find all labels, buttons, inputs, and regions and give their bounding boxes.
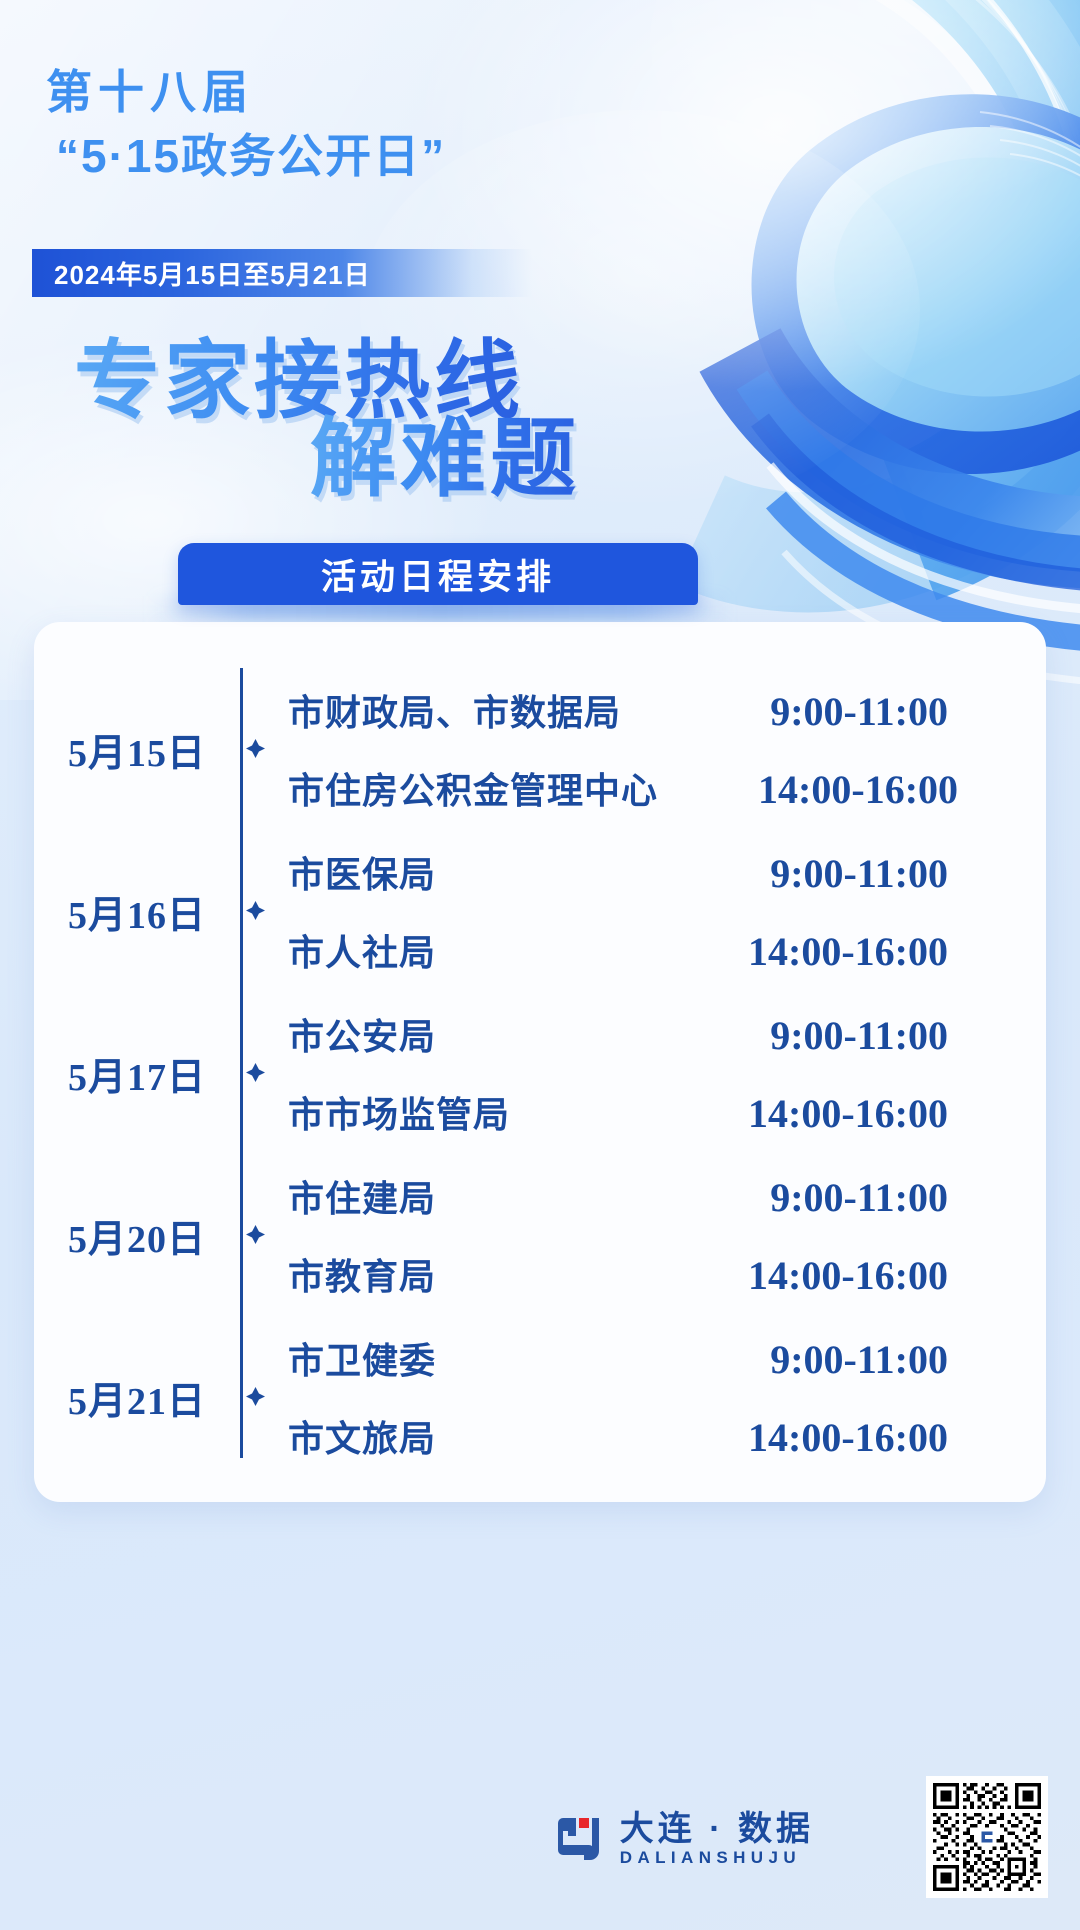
poster-kicker: 第十八届 “5·15政务公开日” [46, 64, 446, 184]
headline-line-2: 解难题 [310, 388, 580, 513]
list-item: 市公安局 9:00-11:00 [288, 1008, 1046, 1060]
entry-time: 9:00-11:00 [648, 1012, 948, 1059]
list-item: 市住建局 9:00-11:00 [288, 1170, 1046, 1222]
brand-lockup: 大连 · 数据 DALIANSHUJU [552, 1810, 814, 1868]
list-item: 市卫健委 9:00-11:00 [288, 1332, 1046, 1384]
row-date: 5月16日 [34, 884, 240, 939]
entry-time: 9:00-11:00 [648, 688, 948, 735]
entry-department: 市教育局 [288, 1248, 648, 1300]
diamond-marker-icon [246, 739, 265, 758]
kicker-line-1: 第十八届 [46, 64, 446, 120]
row-entries: 市财政局、市数据局 9:00-11:00 市住房公积金管理中心 14:00-16… [272, 684, 1046, 814]
poster-footer: 大连 · 数据 DALIANSHUJU [0, 1730, 1080, 1930]
entry-department: 市市场监管局 [288, 1086, 648, 1138]
entry-department: 市住房公积金管理中心 [288, 762, 658, 814]
list-item: 市住房公积金管理中心 14:00-16:00 [288, 762, 1046, 814]
timeline-marker [240, 830, 272, 992]
schedule-banner: 活动日程安排 [178, 543, 698, 605]
row-date: 5月20日 [34, 1208, 240, 1263]
row-entries: 市医保局 9:00-11:00 市人社局 14:00-16:00 [272, 846, 1046, 976]
list-item: 市医保局 9:00-11:00 [288, 846, 1046, 898]
schedule-banner-text: 活动日程安排 [321, 549, 555, 600]
qr-code-icon[interactable] [926, 1776, 1048, 1898]
entry-time: 14:00-16:00 [648, 1090, 948, 1137]
diamond-marker-icon [246, 1063, 265, 1082]
dalian-shuju-logo-icon [552, 1813, 604, 1865]
timeline-marker [240, 668, 272, 830]
row-entries: 市卫健委 9:00-11:00 市文旅局 14:00-16:00 [272, 1332, 1046, 1462]
entry-department: 市公安局 [288, 1008, 648, 1060]
schedule-rows: 5月15日 市财政局、市数据局 9:00-11:00 市住房公积金管理中心 14… [34, 622, 1046, 1502]
date-range-text: 2024年5月15日至5月21日 [32, 255, 371, 292]
table-row: 5月21日 市卫健委 9:00-11:00 市文旅局 14:00-16:00 [34, 1316, 1046, 1478]
entry-department: 市住建局 [288, 1170, 648, 1222]
list-item: 市文旅局 14:00-16:00 [288, 1410, 1046, 1462]
table-row: 5月20日 市住建局 9:00-11:00 市教育局 14:00-16:00 [34, 1154, 1046, 1316]
diamond-marker-icon [246, 1225, 265, 1244]
date-range-badge: 2024年5月15日至5月21日 [32, 249, 532, 297]
list-item: 市人社局 14:00-16:00 [288, 924, 1046, 976]
entry-time: 14:00-16:00 [658, 766, 958, 813]
entry-time: 14:00-16:00 [648, 1414, 948, 1461]
brand-name-cn: 大连 · 数据 [620, 1810, 814, 1848]
timeline-marker [240, 1154, 272, 1316]
entry-department: 市医保局 [288, 846, 648, 898]
brand-text: 大连 · 数据 DALIANSHUJU [620, 1810, 814, 1868]
list-item: 市教育局 14:00-16:00 [288, 1248, 1046, 1300]
entry-time: 9:00-11:00 [648, 1336, 948, 1383]
poster-root: 第十八届 “5·15政务公开日” 2024年5月15日至5月21日 专家接热线 … [0, 0, 1080, 1930]
row-entries: 市住建局 9:00-11:00 市教育局 14:00-16:00 [272, 1170, 1046, 1300]
timeline-marker [240, 992, 272, 1154]
entry-time: 14:00-16:00 [648, 928, 948, 975]
row-date: 5月21日 [34, 1370, 240, 1425]
timeline-marker [240, 1316, 272, 1478]
entry-time: 9:00-11:00 [648, 850, 948, 897]
table-row: 5月15日 市财政局、市数据局 9:00-11:00 市住房公积金管理中心 14… [34, 668, 1046, 830]
list-item: 市市场监管局 14:00-16:00 [288, 1086, 1046, 1138]
table-row: 5月16日 市医保局 9:00-11:00 市人社局 14:00-16:00 [34, 830, 1046, 992]
entry-department: 市财政局、市数据局 [288, 684, 648, 736]
kicker-line-2: “5·15政务公开日” [56, 128, 446, 184]
entry-time: 9:00-11:00 [648, 1174, 948, 1221]
entry-department: 市文旅局 [288, 1410, 648, 1462]
table-row: 5月17日 市公安局 9:00-11:00 市市场监管局 14:00-16:00 [34, 992, 1046, 1154]
entry-department: 市卫健委 [288, 1332, 648, 1384]
entry-time: 14:00-16:00 [648, 1252, 948, 1299]
brand-name-en: DALIANSHUJU [620, 1848, 814, 1868]
list-item: 市财政局、市数据局 9:00-11:00 [288, 684, 1046, 736]
row-entries: 市公安局 9:00-11:00 市市场监管局 14:00-16:00 [272, 1008, 1046, 1138]
row-date: 5月15日 [34, 722, 240, 777]
diamond-marker-icon [246, 1387, 265, 1406]
entry-department: 市人社局 [288, 924, 648, 976]
row-date: 5月17日 [34, 1046, 240, 1101]
diamond-marker-icon [246, 901, 265, 920]
